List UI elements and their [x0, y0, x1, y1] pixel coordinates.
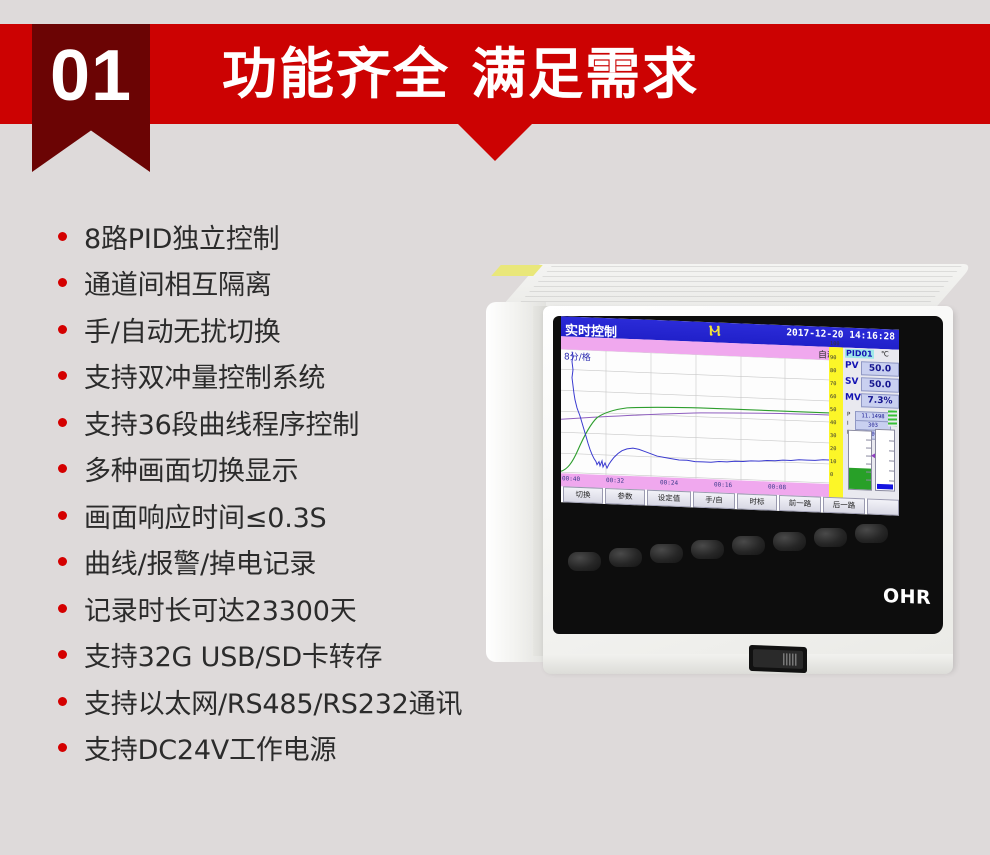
bullet-icon: [58, 232, 67, 241]
hardkey-7[interactable]: [814, 528, 847, 547]
pid-row-label: PV: [845, 361, 859, 372]
feature-label: 支持32G USB/SD卡转存: [84, 635, 382, 674]
time-tick-label: 00:08: [768, 484, 786, 492]
feature-label: 支持36段曲线程序控制: [84, 403, 359, 442]
list-item: 支持DC24V工作电源: [58, 725, 488, 772]
softkey-switch[interactable]: 切换: [563, 486, 603, 504]
list-item: 支持双冲量控制系统: [58, 353, 488, 400]
feature-label: 手/自动无扰切换: [84, 310, 281, 349]
softkey-setpoint[interactable]: 设定值: [647, 490, 691, 508]
softkey-blank[interactable]: [867, 499, 899, 516]
pid-unit-label: ℃: [881, 350, 889, 358]
softkey-manual-auto[interactable]: 手/自: [693, 492, 735, 510]
wave-logo-icon: Ⲙ: [709, 323, 720, 339]
pid-param-label: P: [847, 412, 850, 418]
softkey-next-channel[interactable]: 后一路: [823, 497, 865, 515]
page-title: 功能齐全 满足需求: [222, 24, 699, 124]
list-item: 画面响应时间≤0.3S: [58, 492, 488, 539]
bullet-icon: [58, 697, 67, 706]
softkey-params[interactable]: 参数: [605, 488, 645, 506]
bullet-icon: [58, 650, 67, 659]
y-tick-label: 60: [830, 394, 836, 400]
time-tick-label: 00:24: [660, 479, 678, 487]
usb-sd-port[interactable]: [749, 645, 807, 673]
list-item: 8路PID独立控制: [58, 213, 488, 260]
mv-bar-gauge: [848, 430, 872, 491]
bullet-icon: [58, 511, 67, 520]
pid-header: PID01 ℃: [845, 349, 897, 361]
feature-label: 支持双冲量控制系统: [84, 356, 325, 395]
pid-row-value: 50.0: [861, 361, 899, 377]
hardkey-8[interactable]: [855, 524, 888, 543]
hardkey-1[interactable]: [568, 552, 601, 571]
bullet-icon: [58, 464, 67, 473]
lcd-screen[interactable]: 实时控制 Ⲙ 2017-12-20 14:16:28 自动: [561, 316, 899, 516]
hardkey-3[interactable]: [650, 544, 683, 563]
pid-row-pv: PV 50.0: [845, 361, 897, 376]
y-tick-label: 10: [830, 459, 836, 465]
feature-label: 多种画面切换显示: [84, 449, 298, 488]
softkey-prev-channel[interactable]: 前一路: [779, 495, 821, 513]
y-tick-label: 70: [830, 381, 836, 387]
device-product-image: 实时控制 Ⲙ 2017-12-20 14:16:28 自动: [455, 262, 990, 682]
hardkey-5[interactable]: [732, 536, 765, 555]
status-bars-indicator: [888, 410, 897, 426]
list-item: 支持以太网/RS485/RS232通讯: [58, 678, 488, 725]
header-arrow-marker: [458, 124, 532, 161]
pid-row-sv: SV 50.0: [845, 377, 897, 392]
y-tick-label: 40: [830, 420, 836, 426]
pid-row-value: 50.0: [861, 377, 899, 393]
list-item: 通道间相互隔离: [58, 260, 488, 307]
pid-row-value: 7.3%: [861, 393, 899, 409]
pid-row-label: MV: [845, 393, 861, 404]
series-pv-curve: [572, 352, 829, 477]
list-item: 记录时长可达23300天: [58, 585, 488, 632]
y-tick-label: 100: [830, 341, 840, 347]
usb-port-inner: [753, 649, 803, 669]
pid-row-label: SV: [845, 377, 858, 388]
feature-label: 支持DC24V工作电源: [84, 728, 336, 767]
y-tick-label: 50: [830, 407, 836, 413]
list-item: 手/自动无扰切换: [58, 306, 488, 353]
bullet-icon: [58, 418, 67, 427]
pid-param-label: I: [847, 421, 849, 427]
hardkey-4[interactable]: [691, 540, 724, 559]
time-tick-label: 00:32: [606, 477, 624, 485]
list-item: 支持32G USB/SD卡转存: [58, 632, 488, 679]
feature-label: 曲线/报警/掉电记录: [84, 542, 316, 581]
bullet-icon: [58, 278, 67, 287]
list-item: 曲线/报警/掉电记录: [58, 539, 488, 586]
feature-label: 画面响应时间≤0.3S: [84, 496, 327, 535]
y-tick-label: 80: [830, 368, 836, 374]
bullet-icon: [58, 557, 67, 566]
time-tick-label: 00:16: [714, 481, 732, 489]
pid-row-mv: MV 7.3%: [845, 393, 897, 408]
list-item: 支持36段曲线程序控制: [58, 399, 488, 446]
brand-logo: OHR: [883, 585, 931, 609]
bullet-icon: [58, 325, 67, 334]
softkey-timemark[interactable]: 时标: [737, 493, 777, 511]
output-bar-gauge: [875, 429, 895, 492]
y-tick-label: 20: [830, 446, 836, 452]
list-item: 多种画面切换显示: [58, 446, 488, 493]
y-tick-label: 0: [830, 472, 833, 478]
device-bottom-edge: [543, 654, 953, 674]
bullet-icon: [58, 743, 67, 752]
feature-label: 通道间相互隔离: [84, 263, 272, 302]
lcd-time-scale: 8分/格: [564, 349, 591, 363]
trend-plot-area: [561, 349, 829, 484]
pid-channel-label: PID01: [845, 349, 874, 359]
feature-label: 记录时长可达23300天: [84, 589, 357, 628]
usb-connector-icon: [783, 653, 797, 666]
bullet-icon: [58, 604, 67, 613]
y-tick-label: 90: [830, 355, 836, 361]
output-bar-fill: [877, 484, 893, 489]
bullet-icon: [58, 371, 67, 380]
feature-list: 8路PID独立控制 通道间相互隔离 手/自动无扰切换 支持双冲量控制系统 支持3…: [58, 213, 488, 771]
feature-label: 支持以太网/RS485/RS232通讯: [84, 682, 462, 721]
trend-chart-svg: [561, 349, 829, 484]
y-tick-label: 30: [830, 433, 836, 439]
time-tick-label: 00:40: [562, 475, 580, 483]
hardkey-6[interactable]: [773, 532, 806, 551]
feature-label: 8路PID独立控制: [84, 217, 279, 256]
section-number: 01: [32, 24, 150, 128]
hardkey-2[interactable]: [609, 548, 642, 567]
device-screen-bezel: 实时控制 Ⲙ 2017-12-20 14:16:28 自动: [553, 316, 943, 634]
